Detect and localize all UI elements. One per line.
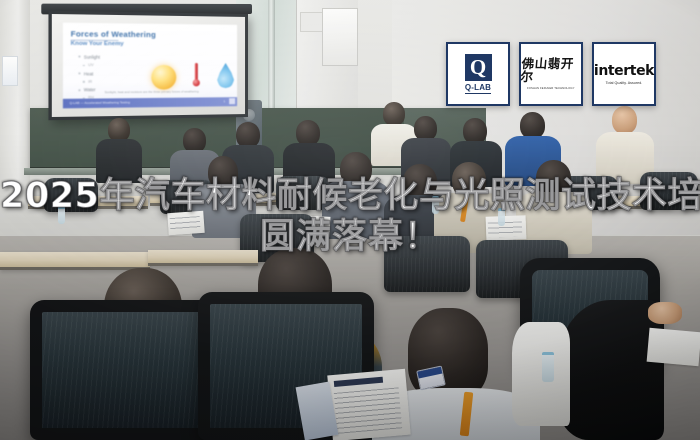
- office-chair: [30, 300, 220, 440]
- slide-bullet: Heat: [78, 71, 128, 76]
- q-lab-wordmark: Q-LAB: [465, 83, 491, 94]
- logo-card-intertek: intertek Total Quality. Assured.: [592, 42, 656, 106]
- q-lab-logo: Q Q-LAB: [465, 54, 492, 94]
- slide-footer-square: [229, 98, 235, 104]
- sun-icon: [151, 65, 176, 90]
- intertek-wordmark: intertek: [594, 64, 654, 78]
- headline-line-2: 圆满落幕！: [0, 216, 700, 258]
- water-bottle: [542, 352, 554, 382]
- q-lab-mark-icon: Q: [465, 54, 492, 81]
- logo-card-q-lab: Q Q-LAB: [446, 42, 510, 106]
- attendee-head: [612, 106, 637, 134]
- headline-line-1: 2025年汽车材料耐候老化与光照测试技术培训: [0, 176, 700, 216]
- foshan-feikaier-logo: 佛山翡开尔 FOSHAN FEIKAIER TECHNOLOGY: [521, 58, 581, 90]
- thermometer-icon: [192, 63, 201, 91]
- handout-paper: [647, 328, 700, 366]
- projector-screen: Forces of Weathering Know Your Enemy Sun…: [48, 11, 248, 121]
- white-jacket: [512, 322, 570, 426]
- booklet-text-lines: [334, 388, 403, 434]
- logo-card-foshan-feikaier: 佛山翡开尔 FOSHAN FEIKAIER TECHNOLOGY: [519, 42, 583, 106]
- slide-bullet: UV: [78, 63, 128, 67]
- foreground-attendee-hand: [648, 302, 682, 324]
- slide-footer-right: 1: [223, 99, 225, 103]
- intertek-tagline: Total Quality. Assured.: [606, 81, 643, 85]
- slide-footer-left: Q-LAB — Accelerated Weathering Testing: [70, 100, 130, 105]
- water-drop-icon: [217, 63, 234, 88]
- presentation-slide: Forces of Weathering Know Your Enemy Sun…: [63, 23, 237, 109]
- foshan-feikaier-english-wordmark: FOSHAN FEIKAIER TECHNOLOGY: [527, 86, 575, 90]
- slide-footnote: Sunlight, heat and moisture are the thre…: [72, 89, 229, 94]
- training-booklet: [327, 369, 410, 440]
- coat-on-chair: [556, 300, 664, 440]
- intertek-logo: intertek Total Quality. Assured.: [594, 64, 654, 85]
- attendee-head: [520, 112, 545, 139]
- thermometer-bulb: [193, 79, 200, 86]
- wall-poster: [2, 56, 18, 86]
- slide-bullet: Sunlight: [78, 54, 128, 59]
- slide-footer-bar: Q-LAB — Accelerated Weathering Testing 1: [63, 97, 237, 108]
- banner-image: Forces of Weathering Know Your Enemy Sun…: [0, 0, 700, 440]
- left-pillar: [0, 0, 30, 190]
- foshan-feikaier-chinese-wordmark: 佛山翡开尔: [520, 58, 582, 83]
- booklet-heading: [334, 377, 383, 387]
- slide-subtitle: Know Your Enemy: [71, 41, 124, 48]
- slide-bullet: IR: [78, 79, 128, 83]
- whiteboard: [322, 8, 358, 66]
- attendee-head: [383, 102, 405, 126]
- slide-title: Forces of Weathering: [71, 29, 156, 39]
- slide-bullet-list: Sunlight UV Heat IR Water RH: [78, 54, 128, 103]
- logo-strip: Q Q-LAB 佛山翡开尔 FOSHAN FEIKAIER TECHNOLOGY…: [446, 42, 656, 106]
- banner-headline: 2025年汽车材料耐候老化与光照测试技术培训 圆满落幕！: [0, 176, 700, 258]
